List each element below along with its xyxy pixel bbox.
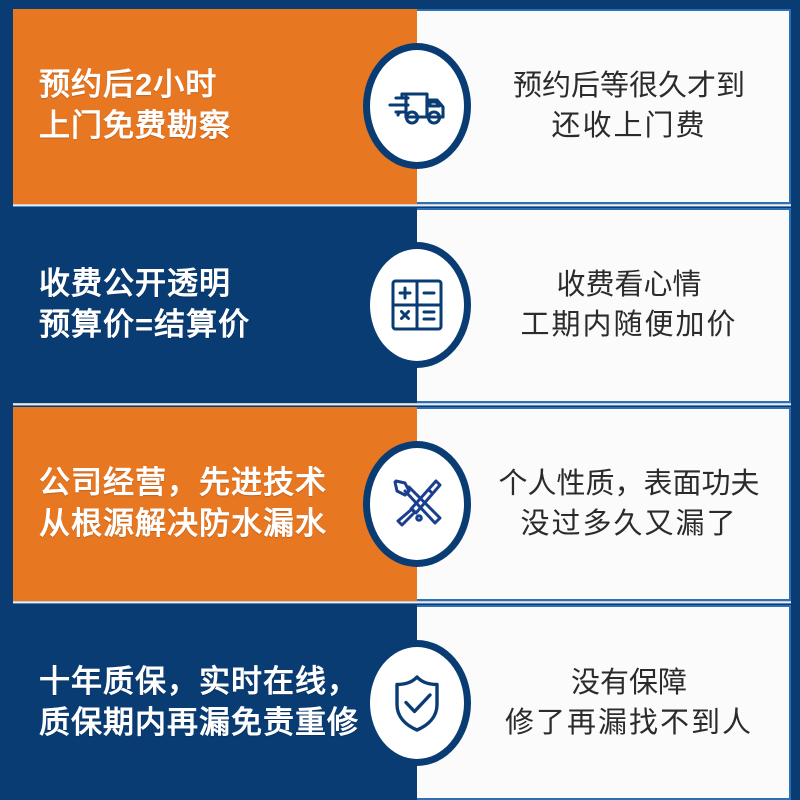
drawback-pane: 预约后等很久才到 还收上门费 bbox=[417, 9, 791, 204]
drawback-text: 收费看心情 工期内随便加价 bbox=[520, 265, 737, 345]
drawback-pane: 收费看心情 工期内随便加价 bbox=[417, 208, 791, 403]
drawback-line: 预约后等很久才到 bbox=[513, 66, 745, 106]
icon-badge bbox=[363, 242, 471, 368]
drawback-line: 修了再漏找不到人 bbox=[505, 703, 753, 743]
advantage-line: 预算价=结算价 bbox=[39, 305, 250, 346]
icon-badge bbox=[363, 43, 471, 169]
advantage-text: 收费公开透明 预算价=结算价 bbox=[39, 264, 250, 346]
drawback-line: 工期内随便加价 bbox=[520, 305, 737, 345]
advantage-pane: 预约后2小时 上门免费勘察 bbox=[13, 9, 417, 204]
advantage-line: 上门免费勘察 bbox=[39, 106, 231, 147]
drawback-pane: 没有保障 修了再漏找不到人 bbox=[417, 605, 791, 800]
advantage-line: 公司经营，先进技术 bbox=[39, 463, 327, 504]
advantage-pane: 十年质保，实时在线， 质保期内再漏免责重修 bbox=[13, 605, 417, 800]
advantage-pane: 公司经营，先进技术 从根源解决防水漏水 bbox=[13, 407, 417, 602]
comparison-row-pricing: 收费公开透明 预算价=结算价 收费看心情 工期内随便加价 bbox=[13, 208, 791, 403]
drawback-text: 预约后等很久才到 还收上门费 bbox=[513, 66, 745, 146]
comparison-board: 预约后2小时 上门免费勘察 预约后等很久才到 还收上门费 bbox=[0, 0, 800, 800]
tools-icon bbox=[386, 473, 448, 535]
comparison-row-response-time: 预约后2小时 上门免费勘察 预约后等很久才到 还收上门费 bbox=[13, 9, 791, 204]
advantage-text: 预约后2小时 上门免费勘察 bbox=[39, 65, 231, 147]
advantage-line: 从根源解决防水漏水 bbox=[39, 504, 327, 545]
drawback-pane: 个人性质，表面功夫 没过多久又漏了 bbox=[417, 407, 791, 602]
comparison-row-warranty: 十年质保，实时在线， 质保期内再漏免责重修 没有保障 修了再漏找不到人 bbox=[13, 605, 791, 800]
advantage-line: 十年质保，实时在线， bbox=[39, 662, 359, 703]
drawback-line: 还收上门费 bbox=[513, 106, 745, 146]
drawback-line: 没过多久又漏了 bbox=[498, 504, 759, 544]
drawback-line: 没有保障 bbox=[505, 663, 753, 703]
icon-badge bbox=[363, 441, 471, 567]
advantage-line: 收费公开透明 bbox=[39, 264, 250, 305]
advantage-text: 公司经营，先进技术 从根源解决防水漏水 bbox=[39, 463, 327, 545]
drawback-line: 个人性质，表面功夫 bbox=[498, 464, 759, 504]
drawback-line: 收费看心情 bbox=[520, 265, 737, 305]
advantage-line: 质保期内再漏免责重修 bbox=[39, 703, 359, 744]
advantage-pane: 收费公开透明 预算价=结算价 bbox=[13, 208, 417, 403]
advantage-text: 十年质保，实时在线， 质保期内再漏免责重修 bbox=[39, 662, 359, 744]
calculator-icon bbox=[388, 276, 446, 334]
drawback-text: 个人性质，表面功夫 没过多久又漏了 bbox=[498, 464, 759, 544]
delivery-truck-icon bbox=[385, 83, 449, 129]
advantage-line: 预约后2小时 bbox=[39, 65, 231, 106]
drawback-text: 没有保障 修了再漏找不到人 bbox=[505, 663, 753, 743]
comparison-row-technique: 公司经营，先进技术 从根源解决防水漏水 个人性质，表面功夫 没过多久又漏了 bbox=[13, 407, 791, 602]
shield-check-icon bbox=[388, 672, 446, 734]
icon-badge bbox=[363, 640, 471, 766]
